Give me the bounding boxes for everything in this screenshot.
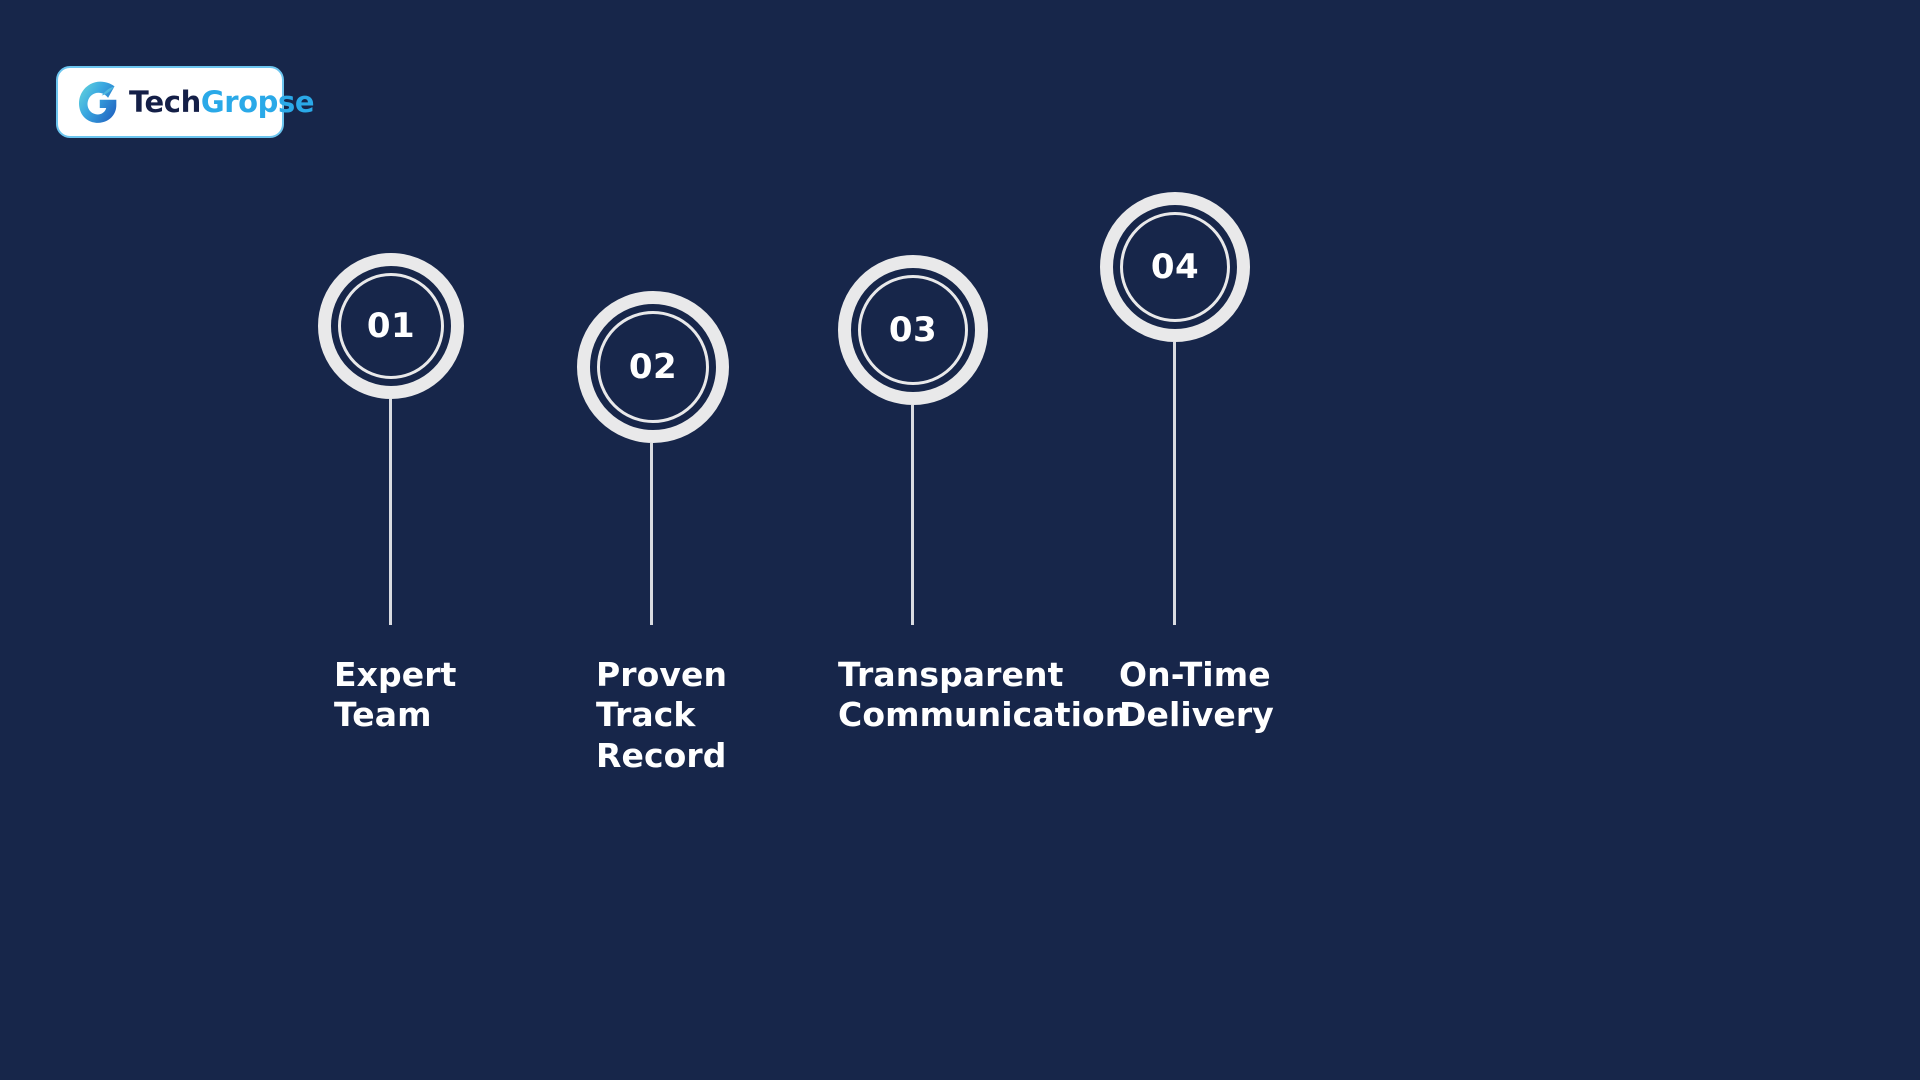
- step-number-label: 04: [1151, 250, 1199, 284]
- step-connector-line-04: [1173, 342, 1176, 625]
- step-caption-02: Proven Track Record: [596, 655, 727, 776]
- step-connector-line-02: [650, 443, 653, 625]
- step-number-label: 03: [889, 313, 937, 347]
- step-caption-04: On-Time Delivery: [1119, 655, 1274, 736]
- timeline-container: 01Expert Team02Proven Track Record03Tran…: [0, 0, 1920, 1080]
- step-number-circle-04[interactable]: 04: [1100, 192, 1250, 342]
- step-number-circle-02[interactable]: 02: [577, 291, 729, 443]
- step-connector-line-01: [389, 399, 392, 625]
- step-caption-03: Transparent Communication: [838, 655, 1128, 736]
- step-number-label: 01: [367, 309, 415, 343]
- step-number-label: 02: [629, 350, 677, 384]
- step-number-circle-03[interactable]: 03: [838, 255, 988, 405]
- step-caption-01: Expert Team: [334, 655, 456, 736]
- step-connector-line-03: [911, 405, 914, 625]
- step-number-circle-01[interactable]: 01: [318, 253, 464, 399]
